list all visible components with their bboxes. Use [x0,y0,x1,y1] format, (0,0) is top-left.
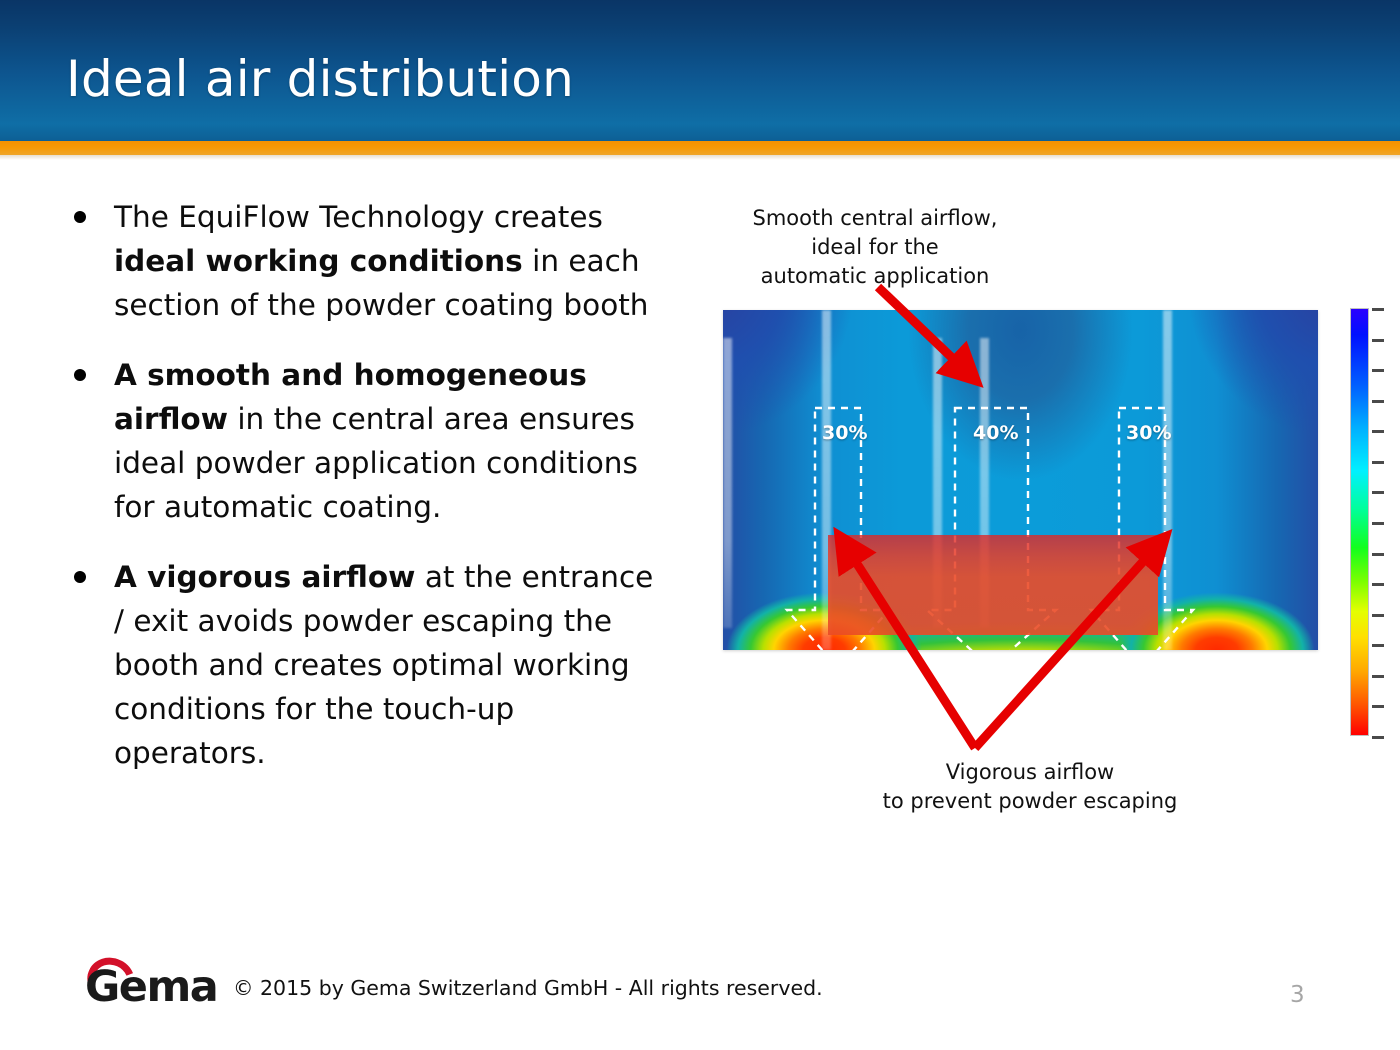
colorbar-tick [1372,339,1384,342]
bullet-item-smooth-homogeneous-airflow: A smooth and homogeneous airflow in the … [62,353,662,529]
caption-vigorous-airflow: Vigorous airflowto prevent powder escapi… [830,758,1230,816]
colorbar-tick [1372,400,1384,403]
gema-logo: Gema [85,958,220,1010]
copyright-text: © 2015 by Gema Switzerland GmbH - All ri… [233,976,823,1000]
colorbar-tick [1372,308,1384,311]
bullet-marker-icon [74,369,86,381]
colorbar-legend [1350,308,1398,740]
colorbar-tick [1372,461,1384,464]
slide-footer: Gema © 2015 by Gema Switzerland GmbH - A… [0,950,1400,1050]
colorbar-tick [1372,736,1384,739]
bullet-item-equiflow-technology: The EquiFlow Technology creates ideal wo… [62,195,662,327]
colorbar-tick [1372,614,1384,617]
flow-label-right: 30% [1126,422,1171,444]
colorbar-tick [1372,675,1384,678]
colorbar-tick [1372,369,1384,372]
bullet-text: A smooth and homogeneous airflow in the … [114,358,638,524]
bullet-text: The EquiFlow Technology creates ideal wo… [114,200,649,322]
colorbar-tick [1372,430,1384,433]
colorbar-tick [1372,705,1384,708]
bullet-text: A vigorous airflow at the entrance / exi… [114,560,653,770]
header-accent-shadow [0,155,1400,160]
header-accent-bar [0,141,1400,155]
bullet-marker-icon [74,211,86,223]
flow-label-left: 30% [822,422,867,444]
page-title: Ideal air distribution [66,50,574,108]
colorbar-tick [1372,522,1384,525]
colorbar-gradient [1350,308,1369,736]
flow-label-center: 40% [973,422,1018,444]
cfd-figure: Smooth central airflow,ideal for theauto… [690,195,1400,835]
colorbar-tick [1372,491,1384,494]
slide-header: Ideal air distribution [0,0,1400,141]
bullet-item-vigorous-airflow: A vigorous airflow at the entrance / exi… [62,555,662,775]
gema-wordmark: Gema [85,962,217,1012]
caption-smooth-central-airflow: Smooth central airflow,ideal for theauto… [700,204,1050,291]
bullet-marker-icon [74,571,86,583]
colorbar-tick [1372,583,1384,586]
powder-booth-block [828,535,1158,635]
bullet-list: The EquiFlow Technology creates ideal wo… [62,195,662,801]
colorbar-tick [1372,553,1384,556]
colorbar-tick [1372,644,1384,647]
page-number: 3 [1290,982,1305,1008]
